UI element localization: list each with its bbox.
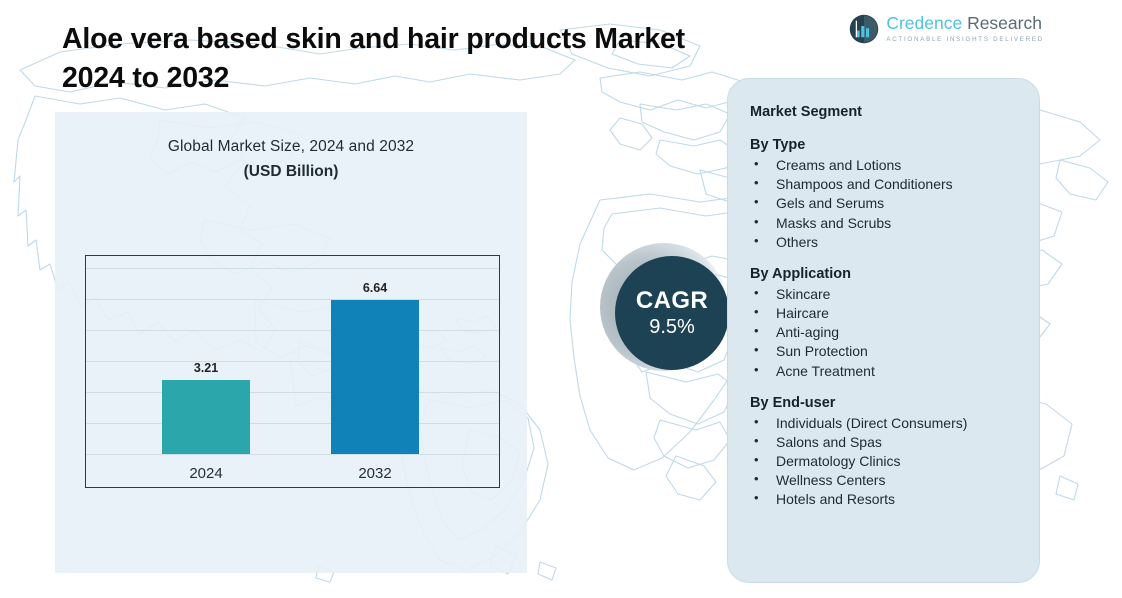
bar-value-2032: 6.64 (363, 281, 387, 295)
segment-item[interactable]: Creams and Lotions (750, 156, 1017, 175)
segment-item[interactable]: Shampoos and Conditioners (750, 175, 1017, 194)
segment-item[interactable]: Wellness Centers (750, 471, 1017, 490)
segment-item-list: Creams and LotionsShampoos and Condition… (750, 156, 1017, 252)
brand-logo: Credence Research Actionable Insights De… (849, 14, 1044, 44)
gridline (86, 392, 499, 393)
bar-chart-plot-area: 3.21 2024 6.64 2032 (85, 255, 500, 488)
segment-group: By End-userIndividuals (Direct Consumers… (750, 395, 1017, 510)
brand-tagline: Actionable Insights Delivered (886, 36, 1044, 43)
segment-item[interactable]: Individuals (Direct Consumers) (750, 414, 1017, 433)
chart-subtitle: Global Market Size, 2024 and 2032 (55, 138, 527, 156)
chart-units: (USD Billion) (55, 163, 527, 181)
brand-name-part1: Credence (886, 13, 962, 33)
segment-group: By TypeCreams and LotionsShampoos and Co… (750, 137, 1017, 252)
gridline (86, 330, 499, 331)
bar-category-2024: 2024 (189, 465, 222, 482)
chart-header: Global Market Size, 2024 and 2032 (USD B… (55, 138, 527, 181)
bar-2024: 3.21 2024 (162, 380, 250, 454)
segment-item[interactable]: Salons and Spas (750, 433, 1017, 452)
segment-item[interactable]: Dermatology Clinics (750, 452, 1017, 471)
segment-item[interactable]: Skincare (750, 285, 1017, 304)
segment-item[interactable]: Anti-aging (750, 323, 1017, 342)
segment-item[interactable]: Gels and Serums (750, 194, 1017, 213)
segment-group-heading: By Type (750, 137, 1017, 153)
market-segment-title: Market Segment (750, 104, 1017, 120)
brand-name: Credence Research (886, 15, 1044, 33)
segment-item-list: SkincareHaircareAnti-agingSun Protection… (750, 285, 1017, 381)
infographic-canvas: Aloe vera based skin and hair products M… (0, 0, 1122, 598)
cagr-value: 9.5% (649, 317, 695, 338)
bar-rect-2024 (162, 380, 250, 454)
chart-gridlines (86, 256, 499, 487)
segment-item[interactable]: Hotels and Resorts (750, 490, 1017, 509)
segment-item[interactable]: Sun Protection (750, 342, 1017, 361)
gridline (86, 361, 499, 362)
bar-value-2024: 3.21 (194, 361, 218, 375)
gridline (86, 268, 499, 269)
segment-group-heading: By End-user (750, 395, 1017, 411)
market-segment-groups: By TypeCreams and LotionsShampoos and Co… (750, 137, 1017, 510)
brand-logo-text: Credence Research Actionable Insights De… (886, 15, 1044, 43)
bar-rect-2032 (331, 300, 419, 454)
page-title: Aloe vera based skin and hair products M… (62, 20, 822, 99)
segment-item[interactable]: Acne Treatment (750, 362, 1017, 381)
bar-chart-circle-icon (849, 14, 879, 44)
brand-name-part2: Research (962, 13, 1042, 33)
segment-item-list: Individuals (Direct Consumers)Salons and… (750, 414, 1017, 510)
segment-item[interactable]: Others (750, 233, 1017, 252)
segment-group: By ApplicationSkincareHaircareAnti-aging… (750, 266, 1017, 381)
cagr-badge: CAGR 9.5% (615, 256, 729, 370)
segment-item[interactable]: Masks and Scrubs (750, 214, 1017, 233)
market-segment-panel: Market Segment By TypeCreams and Lotions… (727, 78, 1040, 583)
cagr-label: CAGR (636, 288, 708, 313)
bar-category-2032: 2032 (358, 465, 391, 482)
segment-group-heading: By Application (750, 266, 1017, 282)
gridline (86, 423, 499, 424)
segment-item[interactable]: Haircare (750, 304, 1017, 323)
bar-2032: 6.64 2032 (331, 300, 419, 454)
gridline (86, 299, 499, 300)
gridline-baseline (86, 454, 499, 455)
